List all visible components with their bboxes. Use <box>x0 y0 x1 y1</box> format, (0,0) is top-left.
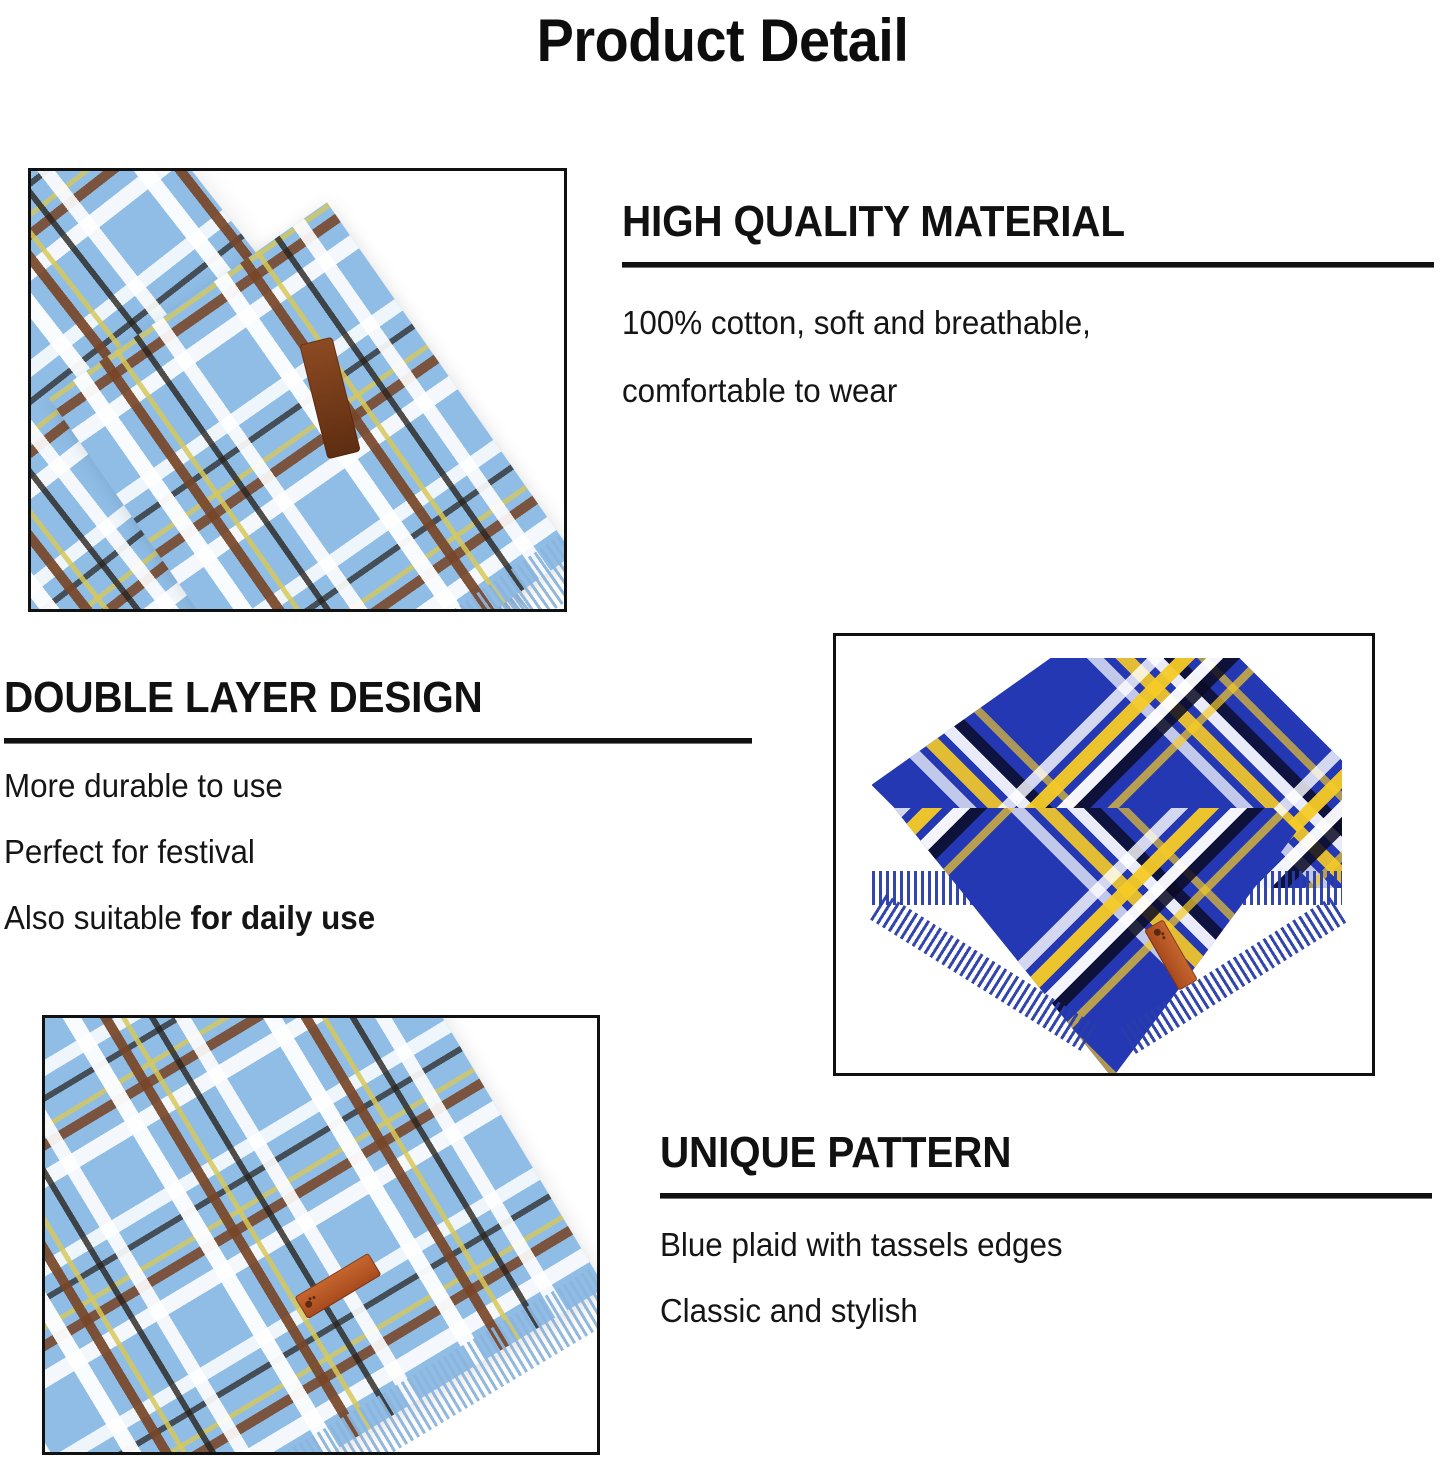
section-heading: DOUBLE LAYER DESIGN <box>4 672 692 724</box>
body-line: Classic and stylish <box>660 1278 1393 1344</box>
bandana-flat-sheet <box>42 1015 600 1455</box>
section-heading: HIGH QUALITY MATERIAL <box>622 196 1369 248</box>
product-detail-page: Product Detail HIGH QUALITY MATERIAL 100… <box>0 0 1445 1460</box>
blue-bandana-image <box>836 636 1372 1073</box>
heading-divider <box>660 1193 1432 1198</box>
section-high-quality-material: HIGH QUALITY MATERIAL 100% cotton, soft … <box>622 196 1434 425</box>
body-line: Perfect for festival <box>4 819 715 885</box>
heading-divider <box>622 262 1434 267</box>
photo-folded-scarf <box>28 168 567 612</box>
plaid-light-fabric <box>42 1015 600 1455</box>
body-line-bold-part: for daily use <box>190 899 375 936</box>
photo-blue-triangle-bandana <box>833 633 1375 1076</box>
heading-divider <box>4 738 752 743</box>
folded-scarf-image <box>31 171 564 609</box>
section-body: More durable to use Perfect for festival… <box>4 753 752 951</box>
paw-print-icon <box>304 1299 314 1309</box>
body-line: comfortable to wear <box>622 357 1393 425</box>
body-line: 100% cotton, soft and breathable, <box>622 289 1393 357</box>
body-line-normal-part: Also suitable <box>4 899 190 936</box>
paw-print-icon <box>1153 928 1163 938</box>
bandana-triangle <box>872 658 1342 1058</box>
section-body: Blue plaid with tassels edges Classic an… <box>660 1212 1432 1344</box>
body-line-mixed: Also suitable for daily use <box>4 885 715 951</box>
body-line: Blue plaid with tassels edges <box>660 1212 1393 1278</box>
flat-bandana-image <box>45 1018 597 1452</box>
section-heading: UNIQUE PATTERN <box>660 1127 1370 1179</box>
section-unique-pattern: UNIQUE PATTERN Blue plaid with tassels e… <box>660 1127 1432 1344</box>
photo-flat-plaid-bandana <box>42 1015 600 1455</box>
section-body: 100% cotton, soft and breathable, comfor… <box>622 289 1434 425</box>
body-line: More durable to use <box>4 753 715 819</box>
section-double-layer-design: DOUBLE LAYER DESIGN More durable to use … <box>4 672 752 951</box>
page-title: Product Detail <box>51 4 1395 78</box>
